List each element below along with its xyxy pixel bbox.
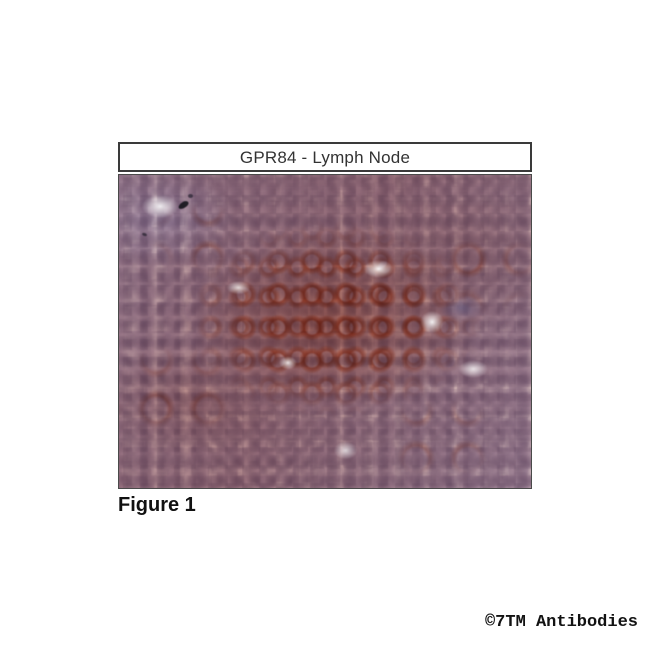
micrograph-image [118, 174, 532, 489]
panel-title-bar: GPR84 - Lymph Node [118, 142, 532, 172]
copyright-notice: ©7TM Antibodies [485, 613, 638, 632]
tissue-soften-layer [119, 175, 531, 488]
panel-title-text: GPR84 - Lymph Node [240, 149, 410, 166]
figure-caption: Figure 1 [118, 494, 196, 516]
figure-panel: GPR84 - Lymph Node [118, 142, 532, 489]
